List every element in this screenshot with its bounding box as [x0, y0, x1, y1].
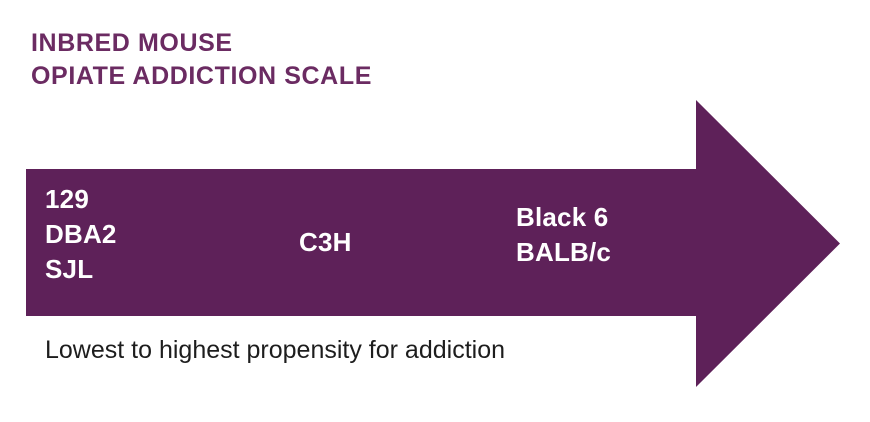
scale-label-lowest-line-1: 129 [45, 182, 117, 217]
infographic-canvas: INBRED MOUSE OPIATE ADDICTION SCALE 129 … [0, 0, 870, 422]
scale-label-lowest: 129 DBA2 SJL [45, 182, 117, 287]
scale-label-lowest-line-3: SJL [45, 252, 117, 287]
scale-label-highest-line-1: Black 6 [516, 200, 611, 235]
scale-caption: Lowest to highest propensity for addicti… [45, 334, 505, 366]
scale-label-highest: Black 6 BALB/c [516, 200, 611, 270]
scale-label-highest-line-2: BALB/c [516, 235, 611, 270]
scale-label-middle-line-1: C3H [299, 225, 352, 260]
scale-label-lowest-line-2: DBA2 [45, 217, 117, 252]
scale-label-middle: C3H [299, 225, 352, 260]
